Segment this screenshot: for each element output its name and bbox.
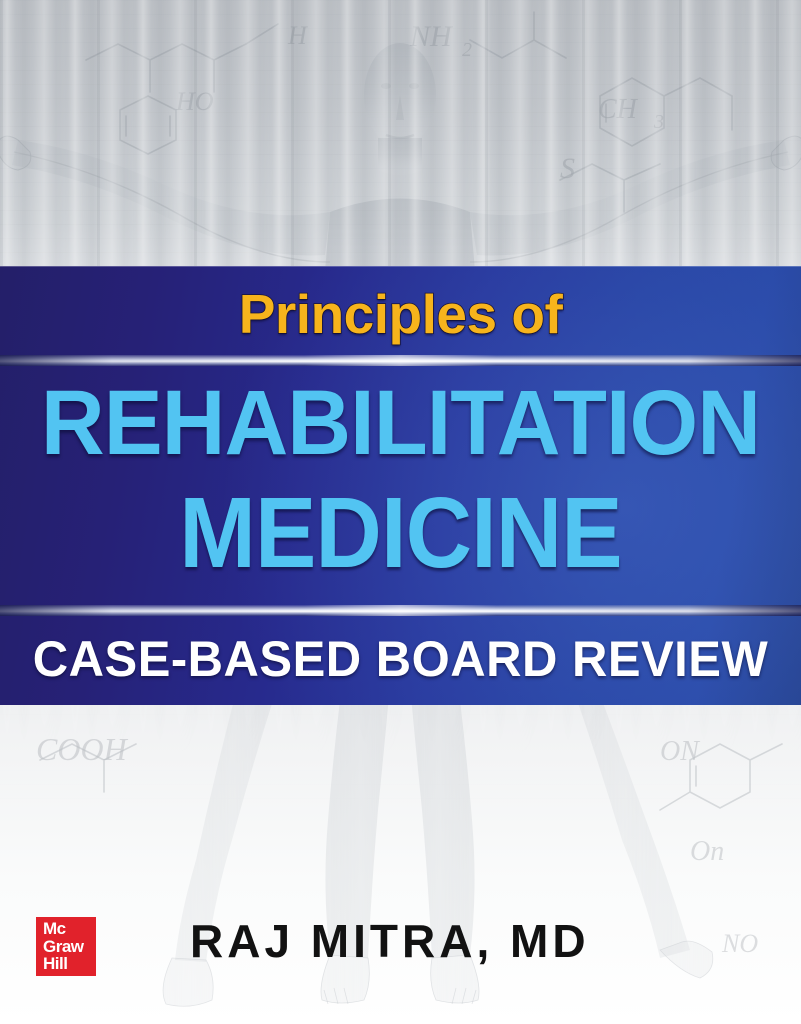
cover-title-line-1: REHABILITATION [16,377,785,469]
mcgraw-hill-logo: Mc Graw Hill [36,917,96,976]
mcgraw-hill-logo-line-2: Graw [43,938,84,956]
cover-overline: Principles of [0,285,801,343]
svg-text:On: On [690,836,724,867]
mcgraw-hill-logo-line-3: Hill [43,955,67,973]
cover-title-line-2: MEDICINE [32,483,769,583]
book-cover: HO H NH 2 S CH 3 N O H COOH SO 2 N ACO C… [0,0,801,1024]
chrome-divider-top [0,355,801,366]
chrome-divider-bottom [0,605,801,616]
cover-author: RAJ MITRA, MD [190,915,750,967]
cover-subtitle: CASE-BASED BOARD REVIEW [8,632,793,686]
mcgraw-hill-logo-line-1: Mc [43,920,66,938]
